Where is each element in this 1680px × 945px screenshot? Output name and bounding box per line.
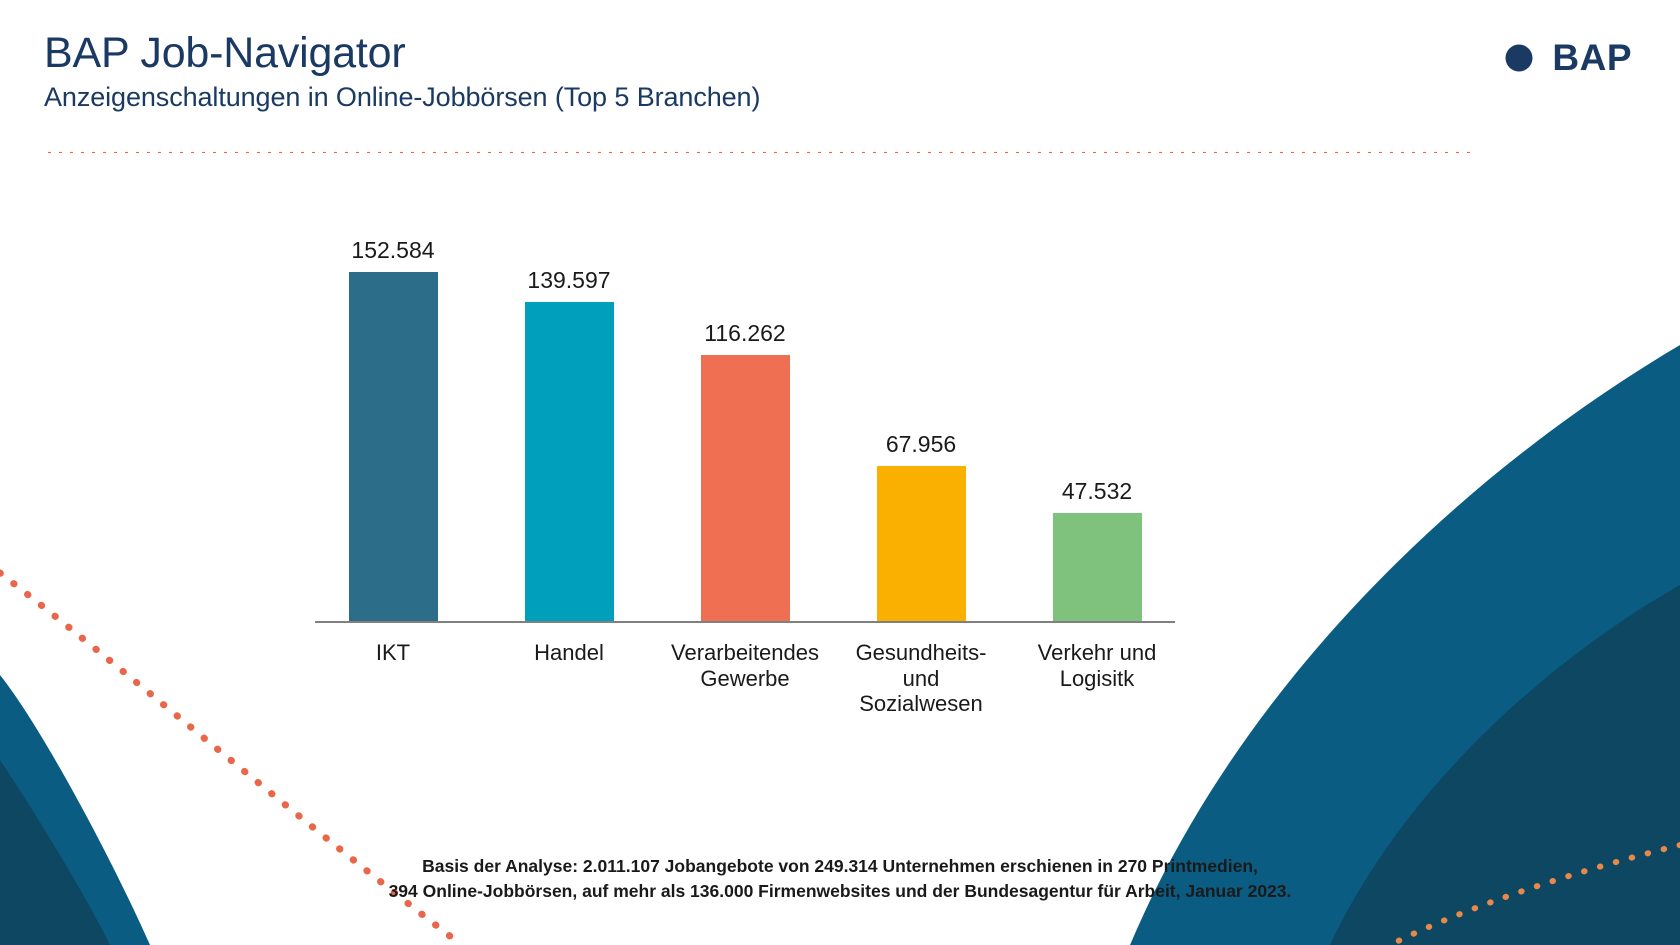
deco-wedge-light: [0, 675, 150, 945]
bar[interactable]: [525, 302, 614, 622]
category-label-line: und: [841, 666, 1001, 692]
bar-chart: 152.584139.597116.26267.95647.532: [305, 232, 1185, 622]
category-label-line: Verarbeitendes: [665, 640, 825, 666]
bap-circle-logo-icon: [1487, 36, 1539, 80]
deco-wedge-dark: [0, 760, 110, 945]
bar-group: 152.584: [313, 232, 473, 622]
bar-group: 47.532: [1017, 232, 1177, 622]
category-label-line: Gewerbe: [665, 666, 825, 692]
x-axis-category-label: VerarbeitendesGewerbe: [665, 640, 825, 717]
bar-value-label: 67.956: [886, 431, 956, 458]
bar-value-label: 139.597: [527, 267, 610, 294]
bar-series: 152.584139.597116.26267.95647.532: [313, 232, 1177, 622]
footnote-line-1: Basis der Analyse: 2.011.107 Jobangebote…: [0, 854, 1680, 879]
x-axis-category-label: Verkehr undLogisitk: [1017, 640, 1177, 717]
category-label-line: Logisitk: [1017, 666, 1177, 692]
x-axis-category-label: Gesundheits-undSozialwesen: [841, 640, 1001, 717]
footnote-line-2: 394 Online-Jobbörsen, auf mehr als 136.0…: [0, 879, 1680, 904]
category-label-line: Gesundheits-: [841, 640, 1001, 666]
x-axis-category-labels: IKTHandelVerarbeitendesGewerbeGesundheit…: [313, 640, 1177, 717]
category-label-line: Handel: [489, 640, 649, 666]
slide-root: BAP Job-Navigator Anzeigenschaltungen in…: [0, 0, 1680, 945]
x-axis-category-label: Handel: [489, 640, 649, 717]
category-label-line: IKT: [313, 640, 473, 666]
bar-group: 116.262: [665, 232, 825, 622]
category-label-line: Sozialwesen: [841, 691, 1001, 717]
bar-value-label: 47.532: [1062, 478, 1132, 505]
bar-value-label: 152.584: [351, 237, 434, 264]
chart-plot-area: 152.584139.597116.26267.95647.532: [305, 232, 1185, 622]
bar[interactable]: [877, 466, 966, 622]
header: BAP Job-Navigator Anzeigenschaltungen in…: [44, 30, 760, 113]
bar-group: 139.597: [489, 232, 649, 622]
x-axis-line: [315, 621, 1175, 623]
bar[interactable]: [1053, 513, 1142, 622]
page-title: BAP Job-Navigator: [44, 30, 760, 76]
brand-logo-text: BAP: [1552, 37, 1632, 79]
header-divider: [44, 150, 1478, 155]
bar-value-label: 116.262: [704, 320, 785, 347]
page-subtitle: Anzeigenschaltungen in Online-Jobbörsen …: [44, 82, 760, 113]
brand-logo: BAP: [1487, 36, 1632, 80]
category-label-line: Verkehr und: [1017, 640, 1177, 666]
footnote: Basis der Analyse: 2.011.107 Jobangebote…: [0, 854, 1680, 904]
bar[interactable]: [701, 355, 790, 622]
x-axis-category-label: IKT: [313, 640, 473, 717]
bar-group: 67.956: [841, 232, 1001, 622]
bar[interactable]: [349, 272, 438, 622]
